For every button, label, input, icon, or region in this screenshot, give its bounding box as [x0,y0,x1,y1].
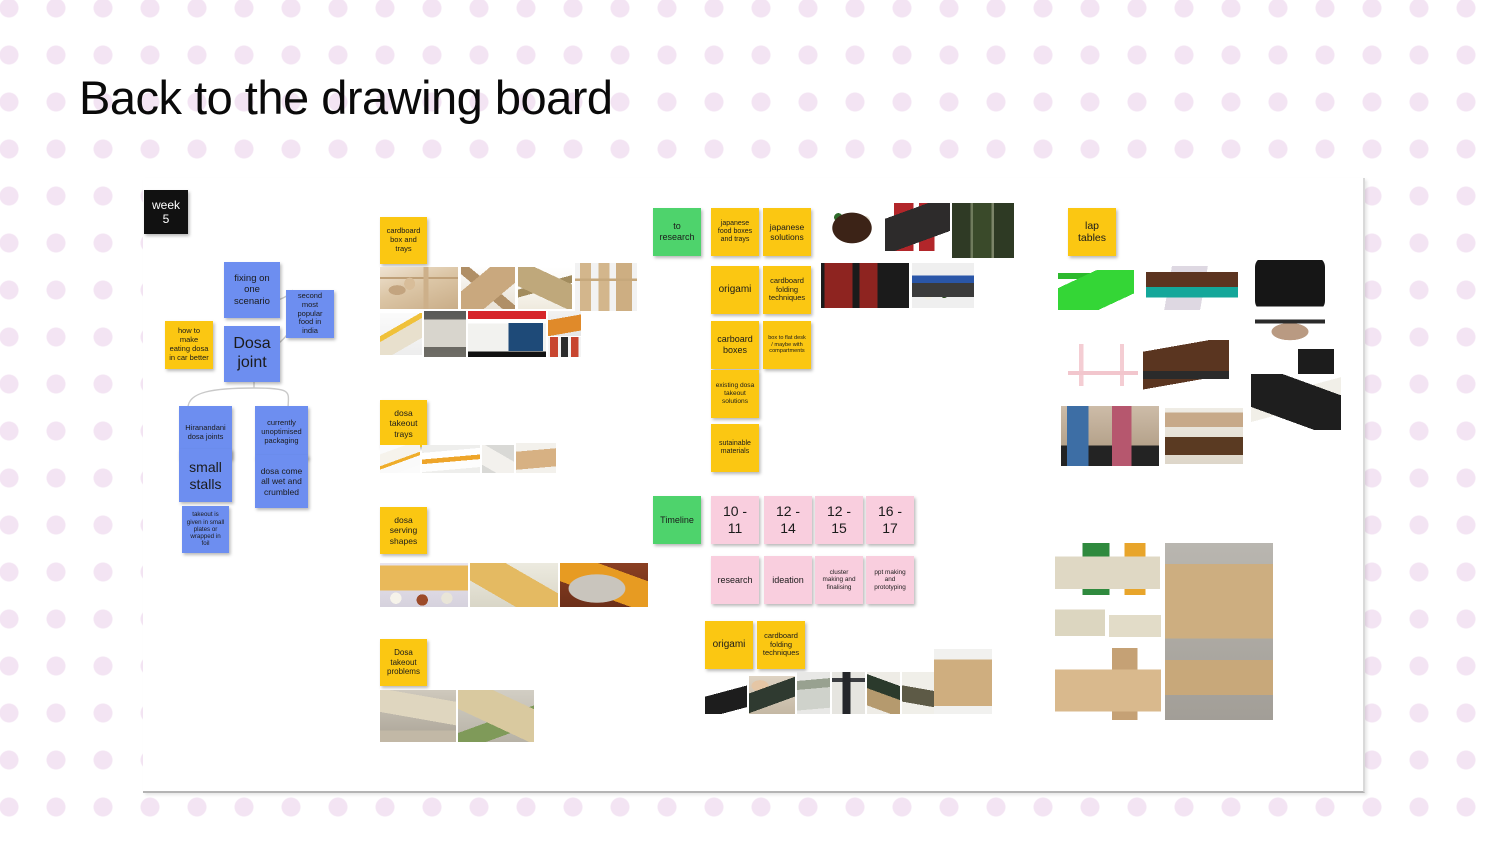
image-bento-red-lacquer-set [885,203,950,251]
note-timeline-heading[interactable]: Timeline [653,496,701,544]
image-dark-wood-lap-desk [1143,340,1229,390]
image-flat-board-sheet [902,672,935,714]
image-cardboard-open-box [461,267,515,309]
image-bento-plastic-trays-grid [952,203,1014,258]
note-takeout-given-in-small-plates[interactable]: takeout is given in small plates or wrap… [182,506,229,553]
image-green-handle-food-box [1055,543,1160,595]
timeline-activity-1[interactable]: ideation [764,556,812,604]
image-grey-folded-box [797,672,830,714]
image-bento-black-red-tray [821,263,909,308]
image-dosa-long-box [422,445,480,473]
image-dosa-cone-plate [380,563,468,607]
image-kids-car-travel-tray [1251,374,1341,430]
note-how-to-make-eating-dosa-better[interactable]: how to make eating dosa in car better [165,321,213,369]
board-content: fixing on one scenario second most popul… [143,178,1363,791]
image-kids-in-car-seats [1061,406,1159,466]
image-black-folded-tray [705,682,747,714]
image-hand-folding-tray [749,676,795,714]
image-green-tray-with-veg [1109,599,1161,643]
image-dosa-folded-plate [560,563,648,607]
image-green-plastic-lap-tray [1058,270,1134,310]
image-cardboard-orange-tray-kit [548,311,581,336]
note-japanese-solutions[interactable]: japanese solutions [763,208,811,256]
note-small-stalls[interactable]: small stalls [179,449,232,502]
image-pink-folding-lap-table [1068,344,1138,386]
image-black-mesh-lap-tray [1255,315,1325,347]
note-sutainable-materials[interactable]: sutainable materials [711,424,759,472]
image-cardboard-red-parts [548,337,581,357]
note-to-research[interactable]: to research [653,208,701,256]
image-dosa-wooden-tray [516,443,556,473]
image-cup-carrier-caddy [934,649,992,714]
note-lap-tables[interactable]: lap tables [1068,208,1116,256]
image-cardboard-flatpack-stools [575,263,637,311]
timeline-activity-3[interactable]: ppt making and prototyping [866,556,914,604]
note-origami-bottom[interactable]: origami [705,621,753,669]
image-dosa-newspaper-wrap [458,690,534,742]
image-wood-teal-lap-desk [1146,266,1238,310]
note-box-to-flat-desk[interactable]: box to flat desk / maybe with compartmen… [763,321,811,369]
image-dosa-foil-wrap [380,690,456,742]
image-cardboard-grey-insert-box [424,311,466,357]
note-existing-dosa-takeout-solutions[interactable]: existing dosa takeout solutions [711,370,759,418]
timeline-range-1[interactable]: 12 - 14 [764,496,812,544]
note-cardboard-folding-techniques-bottom[interactable]: cardboard folding techniques [757,621,805,669]
note-week-badge[interactable]: week 5 [144,190,188,234]
note-origami[interactable]: origami [711,266,759,314]
image-green-box-with-food [1055,599,1105,643]
note-dosa-takeout-problems[interactable]: Dosa takeout problems [380,639,427,686]
image-cardboard-closed-carton [518,267,572,309]
whiteboard-canvas[interactable]: fixing on one scenario second most popul… [143,178,1365,793]
image-wood-bed-tray [1165,408,1243,464]
image-ration-box-poster [468,311,546,357]
image-dosa-box-white [380,445,420,473]
image-cardboard-yellow-lid-box [380,313,422,355]
timeline-range-0[interactable]: 10 - 11 [711,496,759,544]
image-dark-folded-stand [832,672,865,714]
note-carboard-boxes[interactable]: carboard boxes [711,321,759,369]
note-currently-unoptimised-packaging[interactable]: currently unoptimised packaging [255,406,308,459]
image-dosa-roll-plate [470,563,558,607]
note-dosa-come-all-wet-and-crumbled[interactable]: dosa come all wet and crumbled [255,455,308,508]
image-wood-picnic-kit-open [1055,648,1161,720]
image-black-rounded-lap-tray [1255,257,1325,311]
note-cardboard-folding-techniques[interactable]: cardboard folding techniques [763,266,811,314]
slide-title: Back to the drawing board [79,72,613,124]
image-green-folded-wedge [867,672,900,714]
timeline-activity-0[interactable]: research [711,556,759,604]
note-japanese-food-boxes-and-trays[interactable]: japanese food boxes and trays [711,208,759,256]
image-bento-round-lacquer [821,203,883,251]
timeline-range-3[interactable]: 16 - 17 [866,496,914,544]
image-bento-train-ekiben [912,263,974,308]
note-dosa-serving-shapes[interactable]: dosa serving shapes [380,507,427,554]
note-fixing-on-one-scenario[interactable]: fixing on one scenario [224,262,280,318]
timeline-range-2[interactable]: 12 - 15 [815,496,863,544]
note-dosa-joint[interactable]: Dosa joint [224,326,280,382]
timeline-activity-2[interactable]: cluster making and finalising [815,556,863,604]
note-cardboard-box-and-trays[interactable]: cardboard box and trays [380,217,427,264]
image-cardboard-tray-compartments [380,267,458,309]
note-second-most-popular-food[interactable]: second most popular food in india [286,290,334,338]
image-wood-meal-box-kit [1165,543,1273,720]
image-dosa-wedge-tray [482,445,514,473]
note-dosa-takeout-trays[interactable]: dosa takeout trays [380,400,427,447]
